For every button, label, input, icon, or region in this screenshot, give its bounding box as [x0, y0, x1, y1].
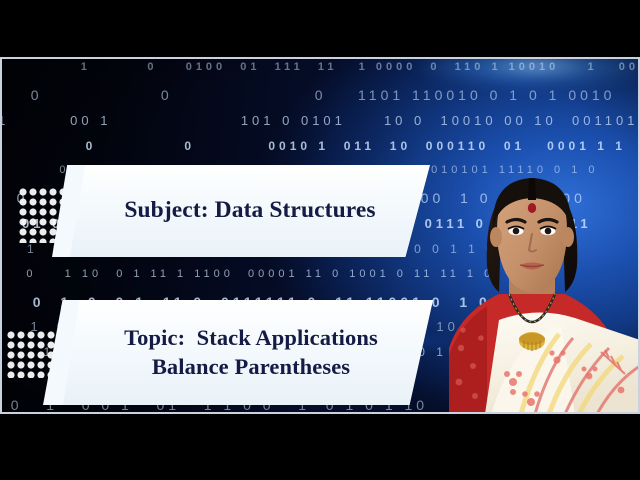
- subject-title-text: Subject: Data Structures: [124, 197, 375, 224]
- binary-row: 1 00 1 101 0 0101 10 0 10010 00 10 00110…: [0, 113, 640, 128]
- banner-subject-panel: Subject: Data Structures: [70, 165, 430, 257]
- banner-topic: Topic: Stack Applications Balance Parent…: [43, 300, 433, 405]
- topic-title-line-1: Topic: Stack Applications: [124, 325, 378, 351]
- slide-content-area: 1 1 0 0100 01 111 11 1 0000 0 110 1 1001…: [0, 57, 640, 414]
- video-slide: 1 1 0 0100 01 111 11 1 0000 0 110 1 1001…: [0, 0, 640, 480]
- topic-title-line-2: Balance Parentheses: [152, 354, 350, 380]
- presenter-video-overlay: [425, 134, 640, 414]
- binary-row: 1 1 0 0100 01 111 11 1 0000 0 110 1 1001…: [0, 61, 640, 73]
- banner-subject: Subject: Data Structures: [52, 165, 430, 257]
- binary-row: 0 0 0 1101 110010 0 1 0 1 0010 001 0 11 …: [0, 87, 640, 103]
- banner-topic-panel: Topic: Stack Applications Balance Parent…: [63, 300, 433, 405]
- letterbox-bar-bottom: [0, 414, 640, 480]
- letterbox-bar-top: [0, 0, 640, 57]
